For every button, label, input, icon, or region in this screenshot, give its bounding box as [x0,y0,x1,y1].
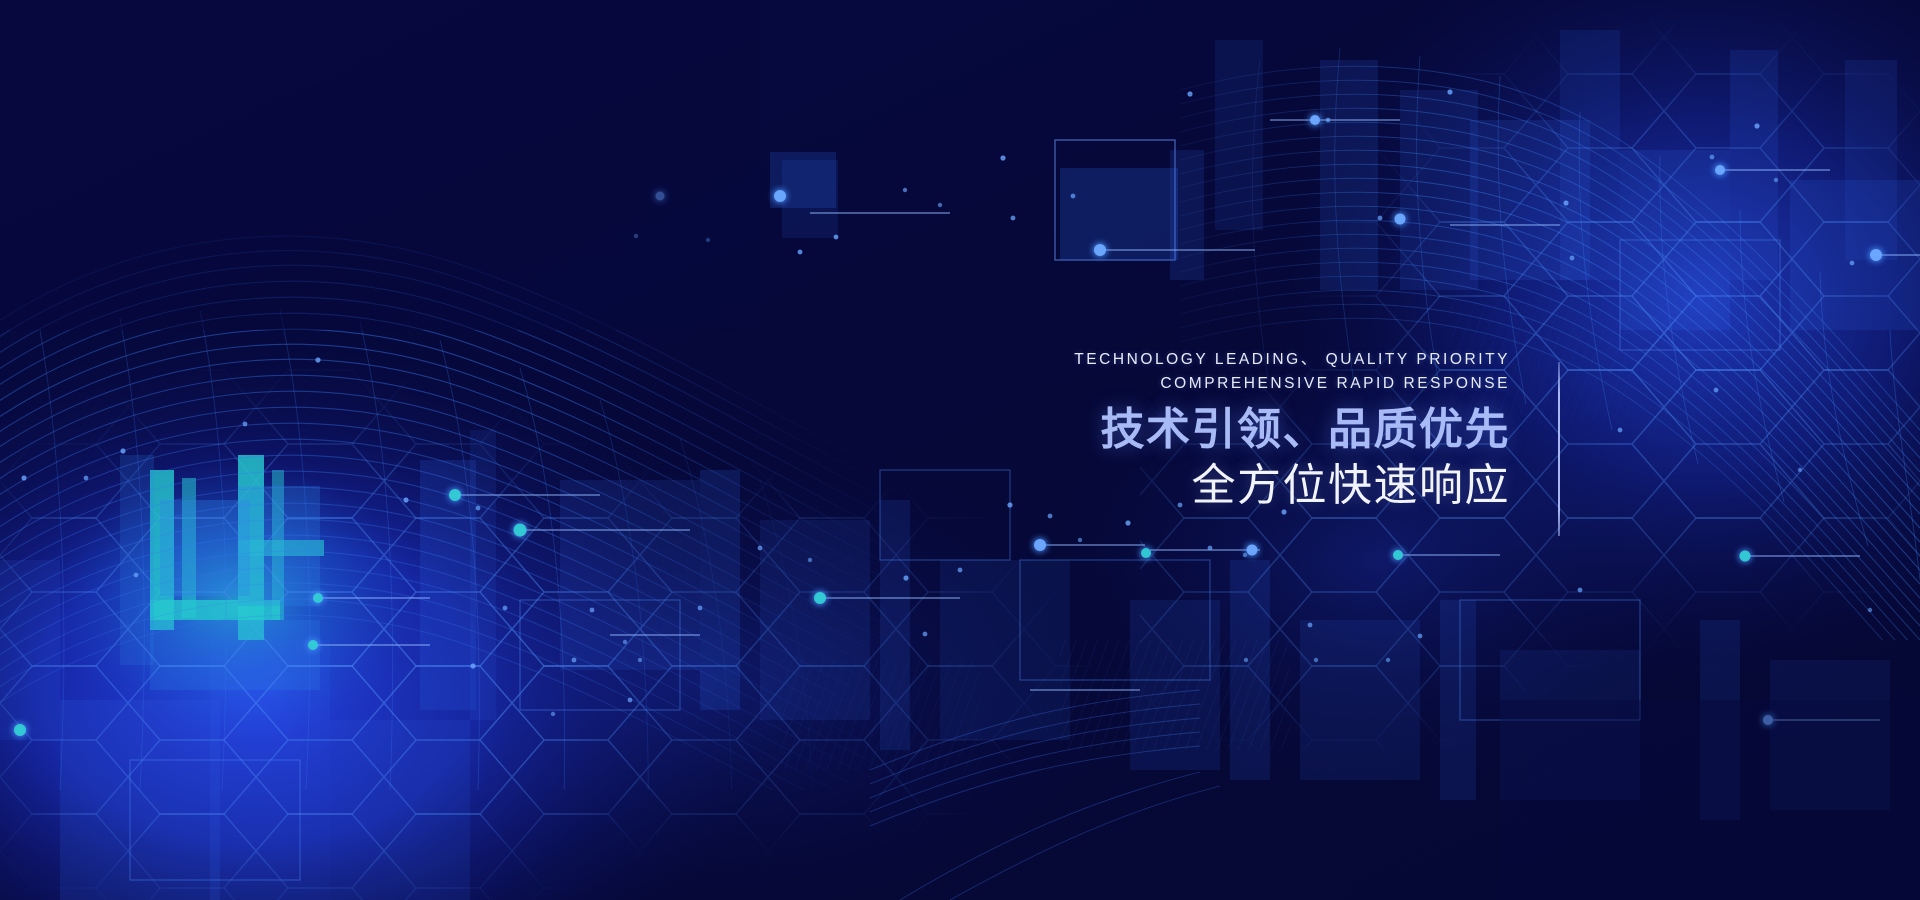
vignette-bottom-right [1500,700,1920,900]
vignette-top-left [0,0,760,330]
english-tagline-line-1: TECHNOLOGY LEADING、 QUALITY PRIORITY [1020,348,1510,372]
english-tagline-line-2: COMPREHENSIVE RAPID RESPONSE [1020,372,1510,396]
background-artwork [0,0,1920,900]
headline-text-block: TECHNOLOGY LEADING、 QUALITY PRIORITY COM… [1020,348,1510,514]
vertical-divider [1558,362,1560,536]
technology-banner: TECHNOLOGY LEADING、 QUALITY PRIORITY COM… [0,0,1920,900]
headline-primary: 技术引领、品质优先 [1020,402,1510,458]
headline-secondary: 全方位快速响应 [1020,458,1510,514]
